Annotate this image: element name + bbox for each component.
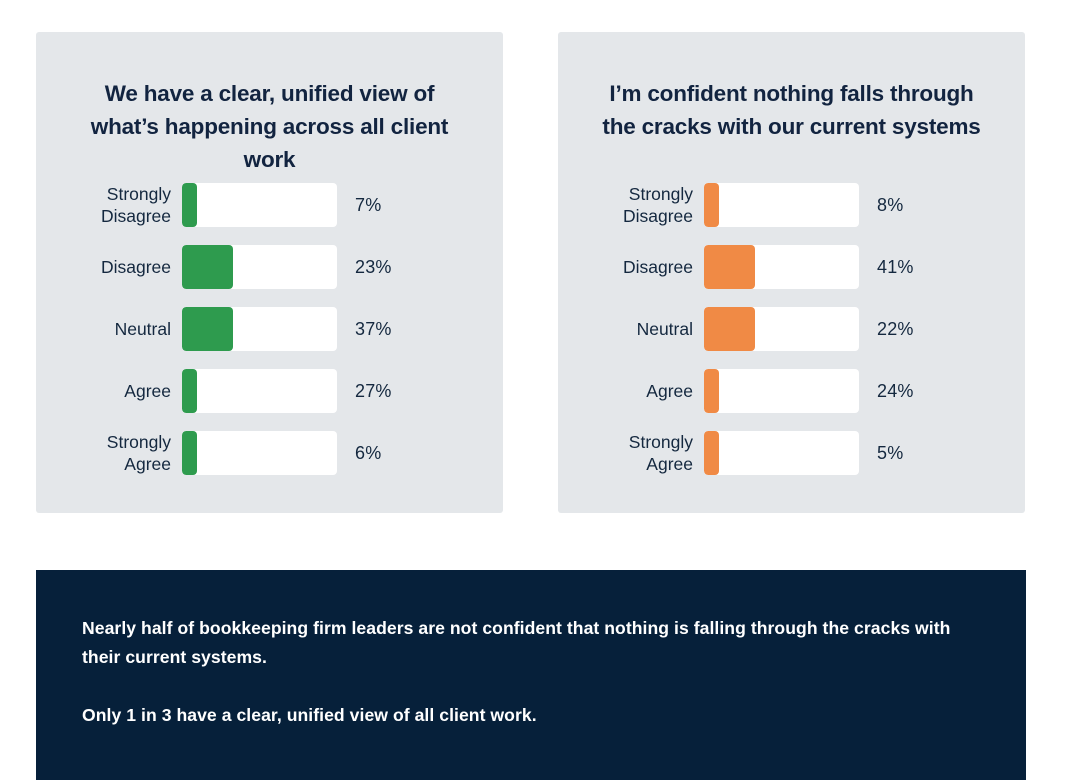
bar-row-value: 5% (859, 443, 903, 464)
bar-row-value: 7% (337, 195, 381, 216)
bar-row: Strongly Agree 5% (558, 422, 1025, 484)
bar-row-value: 8% (859, 195, 903, 216)
bar-fill (182, 245, 233, 289)
callout-paragraph-2: Only 1 in 3 have a clear, unified view o… (82, 701, 980, 730)
key-findings-callout: Nearly half of bookkeeping firm leaders … (36, 570, 1026, 780)
callout-spacer (82, 671, 980, 701)
bar-row-label: Agree (558, 380, 704, 402)
chart-card-clear-unified-view: We have a clear, unified view of what’s … (36, 32, 503, 513)
chart-title: I’m confident nothing falls through the … (558, 32, 1025, 144)
bar-row-value: 37% (337, 319, 392, 340)
infographic-stage: We have a clear, unified view of what’s … (0, 0, 1070, 780)
bar-track (704, 245, 859, 289)
bar-row-value: 22% (859, 319, 914, 340)
bar-row-value: 27% (337, 381, 392, 402)
bar-fill (704, 307, 755, 351)
bar-row-label: Agree (36, 380, 182, 402)
chart-title: We have a clear, unified view of what’s … (36, 32, 503, 177)
bar-row: Strongly Disagree 7% (36, 174, 503, 236)
bar-track (704, 431, 859, 475)
bar-row-label: Strongly Agree (558, 431, 704, 476)
bar-track (182, 307, 337, 351)
bar-row: Strongly Disagree 8% (558, 174, 1025, 236)
bar-rows: Strongly Disagree 7% Disagree 23% Neutra… (36, 174, 503, 484)
bar-row: Agree 27% (36, 360, 503, 422)
bar-row: Disagree 23% (36, 236, 503, 298)
bar-track (704, 307, 859, 351)
bar-track (704, 369, 859, 413)
bar-track (182, 431, 337, 475)
bar-row-label: Disagree (558, 256, 704, 278)
bar-row-label: Disagree (36, 256, 182, 278)
bar-row-value: 6% (337, 443, 381, 464)
bar-row: Agree 24% (558, 360, 1025, 422)
bar-row-value: 41% (859, 257, 914, 278)
bar-track (182, 369, 337, 413)
bar-row-value: 23% (337, 257, 392, 278)
bar-rows: Strongly Disagree 8% Disagree 41% Neutra… (558, 174, 1025, 484)
bar-fill (182, 431, 197, 475)
callout-paragraph-1: Nearly half of bookkeeping firm leaders … (82, 614, 980, 671)
bar-row-label: Strongly Disagree (36, 183, 182, 228)
bar-fill (182, 369, 197, 413)
bar-row-value: 24% (859, 381, 914, 402)
bar-row-label: Strongly Disagree (558, 183, 704, 228)
bar-row: Disagree 41% (558, 236, 1025, 298)
bar-row: Neutral 37% (36, 298, 503, 360)
bar-row-label: Strongly Agree (36, 431, 182, 476)
bar-track (182, 183, 337, 227)
bar-fill (704, 183, 719, 227)
bar-track (182, 245, 337, 289)
bar-fill (704, 245, 755, 289)
bar-row: Neutral 22% (558, 298, 1025, 360)
bar-fill (182, 183, 197, 227)
chart-card-nothing-falls-through-cracks: I’m confident nothing falls through the … (558, 32, 1025, 513)
bar-row: Strongly Agree 6% (36, 422, 503, 484)
bar-row-label: Neutral (558, 318, 704, 340)
bar-fill (704, 431, 719, 475)
bar-track (704, 183, 859, 227)
bar-fill (704, 369, 719, 413)
bar-fill (182, 307, 233, 351)
bar-row-label: Neutral (36, 318, 182, 340)
